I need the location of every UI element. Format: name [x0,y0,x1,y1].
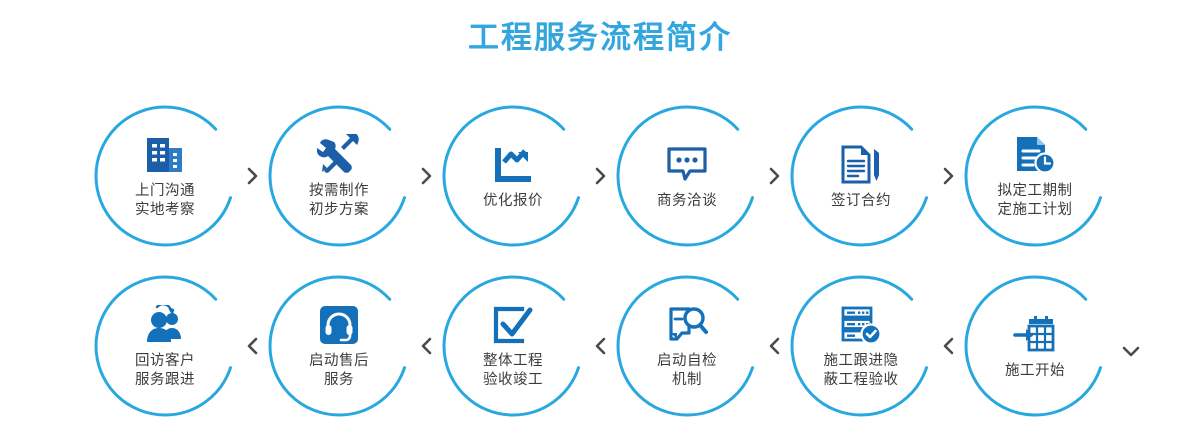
flow-step-label: 启动自检 机制 [657,352,717,390]
speech-bubble-icon [664,142,710,188]
declining-chart-arrow-icon [490,142,536,188]
document-magnifier-icon [664,302,710,348]
flow-step-shangmen-goutong[interactable]: 上门沟通 实地考察 [89,100,241,252]
document-pen-icon [838,142,884,188]
flow-step-shangwu-qiatan[interactable]: 商务洽谈 [611,100,763,252]
chevron-down-icon [1119,342,1143,360]
chevron-left-icon [937,270,959,422]
wrench-screwdriver-icon [316,132,362,178]
chevron-right-icon [937,100,959,252]
flow-step-label: 施工跟进隐 蔽工程验收 [824,352,899,390]
flow-step-label: 签订合约 [831,192,891,211]
process-flow-diagram: 上门沟通 实地考察 按需制作 初步方案 [0,92,1200,430]
office-building-icon [142,132,188,178]
chevron-left-icon [589,270,611,422]
chevron-left-icon [415,270,437,422]
flow-step-label: 启动售后 服务 [309,352,369,390]
chevron-left-icon [241,270,263,422]
chevron-right-icon [589,100,611,252]
checkbox-check-icon [490,302,536,348]
chevron-left-icon [763,270,785,422]
flow-row-bottom: 回访客户 服务跟进 启动售后 服务 [0,262,1200,430]
flow-step-shigong-genjin[interactable]: 施工跟进隐 蔽工程验收 [785,270,937,422]
flow-step-qidong-zijian[interactable]: 启动自检 机制 [611,270,763,422]
flow-step-anxu-zhizuo[interactable]: 按需制作 初步方案 [263,100,415,252]
flow-step-youhua-baojia[interactable]: 优化报价 [437,100,589,252]
flow-step-label: 优化报价 [483,192,543,211]
document-clock-icon [1012,132,1058,178]
flow-step-qidong-shouhou[interactable]: 启动售后 服务 [263,270,415,422]
page-title: 工程服务流程简介 [0,22,1200,53]
flow-step-zhengti-gongcheng[interactable]: 整体工程 验收竣工 [437,270,589,422]
flow-step-label: 上门沟通 实地考察 [135,182,195,220]
flow-step-label: 按需制作 初步方案 [309,182,369,220]
flow-step-niding-gongqi[interactable]: 拟定工期制 定施工计划 [959,100,1111,252]
flow-step-label: 回访客户 服务跟进 [135,352,195,390]
flow-step-label: 施工开始 [1005,362,1065,381]
flow-step-label: 拟定工期制 定施工计划 [998,182,1073,220]
flow-step-label: 商务洽谈 [657,192,717,211]
flow-step-label: 整体工程 验收竣工 [483,352,543,390]
calendar-start-arrow-icon [1012,312,1058,358]
flow-row-top: 上门沟通 实地考察 按需制作 初步方案 [0,92,1200,260]
chevron-right-icon [763,100,785,252]
two-people-icon [142,302,188,348]
server-rack-check-icon [838,302,884,348]
headset-support-icon [316,302,362,348]
flow-step-qianding-heyue[interactable]: 签订合约 [785,100,937,252]
chevron-right-icon [415,100,437,252]
flow-step-shigong-kaishi[interactable]: 施工开始 [959,270,1111,422]
chevron-right-icon [241,100,263,252]
flow-step-huifang-kehu[interactable]: 回访客户 服务跟进 [89,270,241,422]
